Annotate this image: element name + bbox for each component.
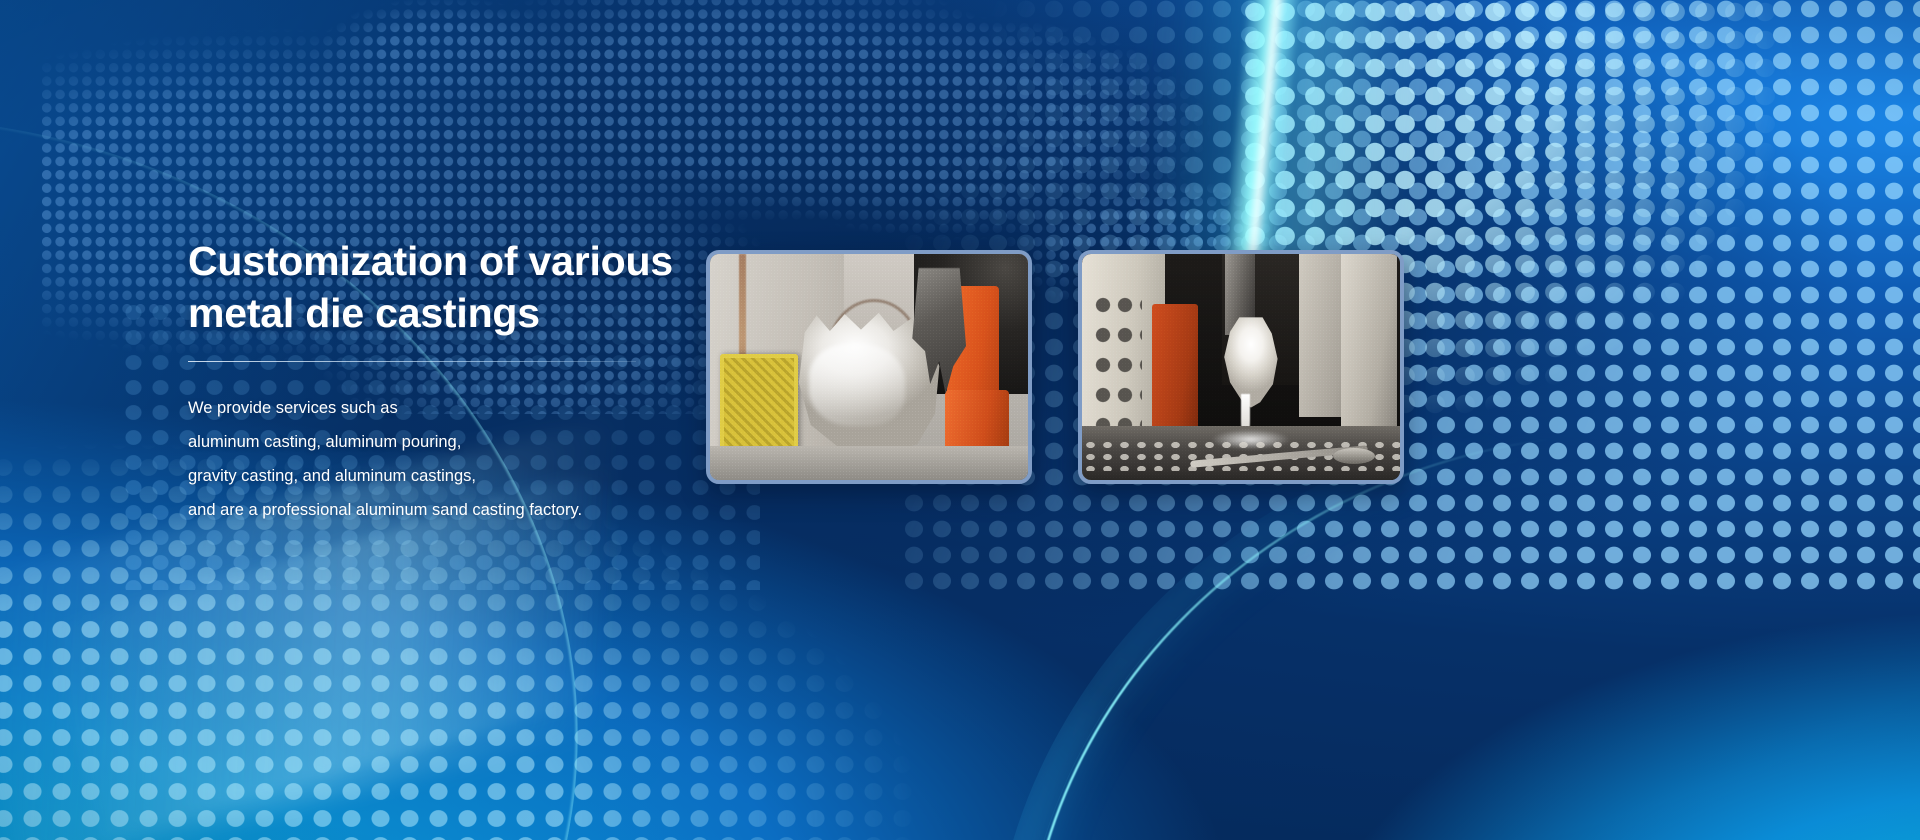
- photo-1-image: [710, 254, 1028, 480]
- title-divider: [188, 361, 636, 362]
- description-line-2: aluminum casting, aluminum pouring,: [188, 426, 708, 460]
- headline-line-2: metal die castings: [188, 288, 708, 340]
- hero-text-block: Customization of various metal die casti…: [188, 236, 708, 528]
- description-line-4: and are a professional aluminum sand cas…: [188, 494, 708, 528]
- photo-1-grain: [710, 254, 1028, 480]
- page-title: Customization of various metal die casti…: [188, 236, 708, 339]
- hero-photo-gallery: [706, 250, 1404, 484]
- photo-2-grain: [1082, 254, 1400, 480]
- hero-banner: Customization of various metal die casti…: [0, 0, 1920, 840]
- headline-line-1: Customization of various: [188, 238, 673, 284]
- photo-molten-aluminum-pour[interactable]: [1078, 250, 1404, 484]
- photo-aluminum-casting-lift[interactable]: [706, 250, 1032, 484]
- description-line-3: gravity casting, and aluminum castings,: [188, 460, 708, 494]
- hero-description: We provide services such as aluminum cas…: [188, 392, 708, 527]
- description-line-1: We provide services such as: [188, 392, 708, 426]
- photo-2-image: [1082, 254, 1400, 480]
